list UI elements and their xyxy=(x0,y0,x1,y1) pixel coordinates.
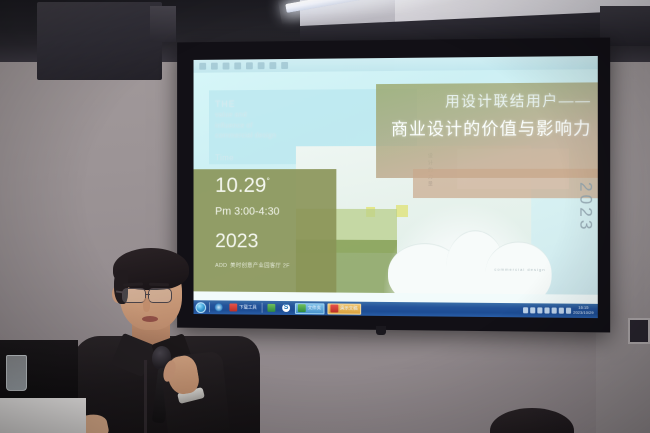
text-icon[interactable] xyxy=(246,62,253,69)
taskbar-item-explorer-window[interactable]: 文件夹 xyxy=(295,303,324,314)
slide-subheading: value and influence of commercial design xyxy=(215,109,276,142)
clock-date: 2023/10/29 xyxy=(573,310,594,315)
taskbar-spacer xyxy=(364,309,520,311)
speaker-bracket xyxy=(150,6,176,42)
network-icon[interactable] xyxy=(523,307,528,313)
input-method-icon[interactable] xyxy=(559,308,564,314)
sogou-input-icon[interactable]: S xyxy=(282,304,290,312)
cloud-icon[interactable] xyxy=(552,308,557,314)
slide-year-vertical: 2023 xyxy=(575,182,596,233)
slide-title-line-2: 商业设计的价值与影响力 xyxy=(376,114,591,140)
taskbar-item-powerpoint-window[interactable]: 演示文稿 xyxy=(327,303,361,314)
powerpoint-icon[interactable] xyxy=(330,304,338,312)
slide-event-date-value: 10.29 xyxy=(215,174,266,197)
taskbar-item-explorer-label: 文件夹 xyxy=(308,305,321,311)
flag-icon[interactable] xyxy=(566,308,571,314)
notepad-icon[interactable] xyxy=(267,304,275,312)
slide-title: 用设计联结用户—— 商业设计的价值与影响力 xyxy=(376,89,593,140)
shield-icon[interactable] xyxy=(544,307,549,313)
wall-vent xyxy=(628,318,650,344)
presenter-figure xyxy=(60,248,260,433)
slide-photo-caption-small: commercial design xyxy=(494,267,545,272)
water-glass xyxy=(6,355,27,391)
screen-mount xyxy=(376,326,386,335)
slide-event-hours: Pm 3:00-4:30 xyxy=(215,206,279,218)
pen-icon[interactable] xyxy=(258,62,265,69)
glasses-bridge xyxy=(146,294,150,295)
slide-event-date-sup: ° xyxy=(266,176,270,186)
grid-icon[interactable] xyxy=(281,62,288,69)
battery-icon[interactable] xyxy=(537,307,542,313)
ceiling-speaker-icon xyxy=(37,2,162,80)
save-icon[interactable] xyxy=(199,63,206,70)
slide-title-line-1: 用设计联结用户—— xyxy=(376,89,591,112)
system-tray[interactable]: 16:15 2023/10/29 xyxy=(523,305,596,315)
presenter-mouth xyxy=(142,316,158,322)
slide-event-date: 10.29° xyxy=(215,174,270,198)
front-table-white-edge xyxy=(0,398,86,433)
folder-icon[interactable] xyxy=(298,304,306,312)
presenter-eyebrow-right xyxy=(149,283,169,287)
presenter-nose xyxy=(143,298,150,312)
shape-icon[interactable] xyxy=(234,62,241,69)
volume-icon[interactable] xyxy=(530,307,535,313)
taskbar-item-sogou-input[interactable]: S xyxy=(280,302,292,313)
taskbar-item-powerpoint-label: 演示文稿 xyxy=(340,306,358,312)
slide-title-band-peach xyxy=(413,168,598,197)
glasses-lens-right xyxy=(148,288,172,303)
undo-icon[interactable] xyxy=(211,63,218,70)
taskbar-item-notepad[interactable] xyxy=(266,302,278,313)
presenter-shirt-placket xyxy=(144,360,147,433)
slide-flower-illustration xyxy=(384,204,548,295)
slide-left-english-block: THE value and influence of commercial de… xyxy=(215,98,276,141)
slide-time-label: Time xyxy=(215,154,234,163)
redo-icon[interactable] xyxy=(223,63,230,70)
slide-heading-the: THE xyxy=(215,98,276,108)
taskbar-divider xyxy=(262,303,263,313)
eraser-icon[interactable] xyxy=(269,62,276,69)
taskbar-clock[interactable]: 16:15 2023/10/29 xyxy=(573,306,594,316)
photo-scene: 设计的力量 commercial design 用设计联结用户—— 商业设计的价… xyxy=(0,0,650,433)
